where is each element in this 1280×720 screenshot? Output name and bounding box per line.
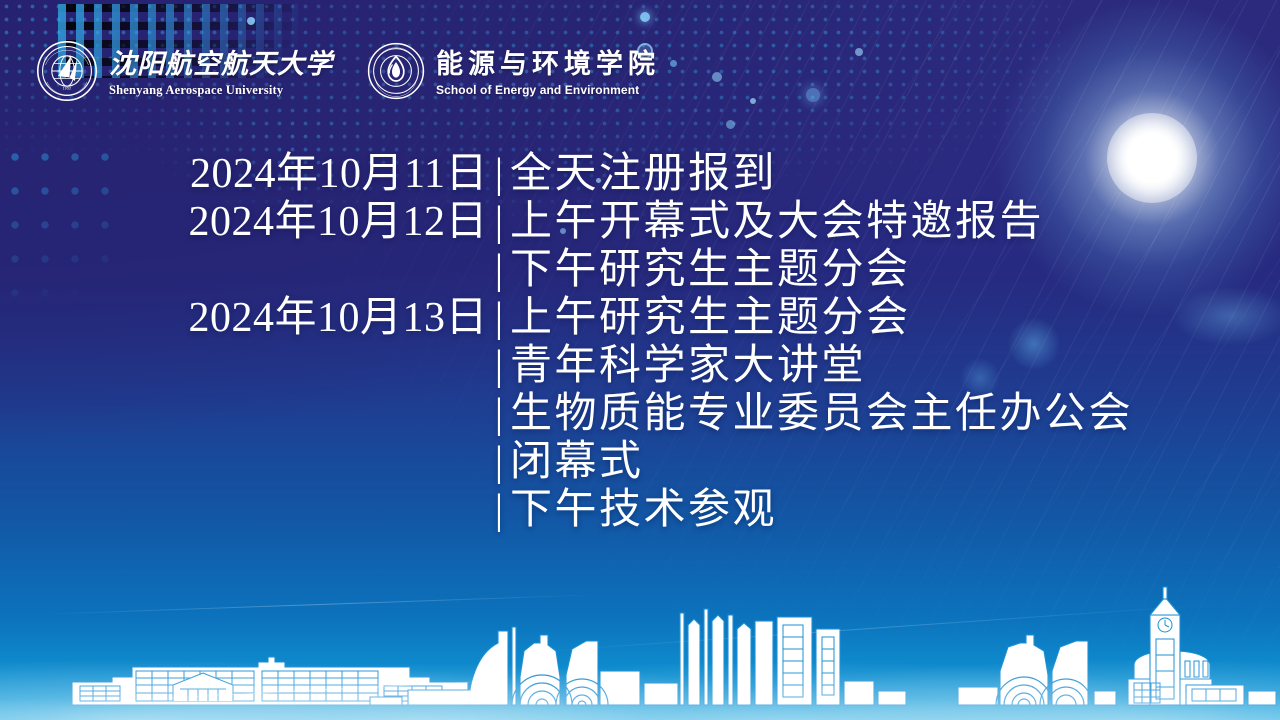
schedule-row: |闭幕式 [0, 438, 1280, 486]
schedule-date: 2024年10月11日 [0, 150, 488, 198]
schedule-item: 上午研究生主题分会 [510, 294, 1280, 342]
schedule-list: 2024年10月11日|全天注册报到2024年10月12日|上午开幕式及大会特邀… [0, 150, 1280, 534]
schedule-item: 下午研究生主题分会 [510, 246, 1280, 294]
university-name-en: Shenyang Aerospace University [109, 84, 333, 97]
schedule-row: 2024年10月13日|上午研究生主题分会 [0, 294, 1280, 342]
bokeh-dot [247, 17, 255, 25]
school-seal-icon [367, 42, 425, 105]
schedule-row: |生物质能专业委员会主任办公会 [0, 390, 1280, 438]
schedule-item: 全天注册报到 [510, 150, 1280, 198]
bokeh-dot [855, 48, 863, 56]
schedule-item: 闭幕式 [510, 438, 1280, 486]
schedule-item: 生物质能专业委员会主任办公会 [510, 390, 1280, 438]
schedule-separator: | [488, 390, 510, 438]
school-name-cn: 能源与环境学院 [436, 51, 660, 78]
header-logo-bar: 1952 沈阳航空航天大学 Shenyang Aerospace Univers… [36, 40, 660, 107]
cloud-band-icon [0, 648, 1280, 720]
university-seal-icon: 1952 [36, 40, 98, 107]
schedule-separator: | [488, 486, 510, 534]
schedule-item: 下午技术参观 [510, 486, 1280, 534]
schedule-separator: | [488, 342, 510, 390]
schedule-item: 青年科学家大讲堂 [510, 342, 1280, 390]
schedule-separator: | [488, 198, 510, 246]
schedule-item: 上午开幕式及大会特邀报告 [510, 198, 1280, 246]
schedule-date: 2024年10月13日 [0, 294, 488, 342]
school-name-en: School of Energy and Environment [436, 84, 660, 96]
bokeh-dot [750, 98, 756, 104]
bokeh-dot [726, 120, 735, 129]
schedule-separator: | [488, 438, 510, 486]
university-name-block: 沈阳航空航天大学 Shenyang Aerospace University [109, 51, 333, 97]
bokeh-dot [806, 88, 820, 102]
schedule-separator: | [488, 294, 510, 342]
schedule-row: |下午研究生主题分会 [0, 246, 1280, 294]
university-name-cn: 沈阳航空航天大学 [109, 51, 333, 78]
schedule-separator: | [488, 150, 510, 198]
bokeh-dot [640, 12, 650, 22]
slide-canvas: 1952 沈阳航空航天大学 Shenyang Aerospace Univers… [0, 0, 1280, 720]
schedule-separator: | [488, 246, 510, 294]
university-logo: 1952 沈阳航空航天大学 Shenyang Aerospace Univers… [36, 40, 333, 107]
bokeh-dot [670, 60, 677, 67]
school-name-block: 能源与环境学院 School of Energy and Environment [436, 51, 660, 96]
bokeh-dot [712, 72, 722, 82]
schedule-date: 2024年10月12日 [0, 198, 488, 246]
schedule-row: |青年科学家大讲堂 [0, 342, 1280, 390]
schedule-row: 2024年10月12日|上午开幕式及大会特邀报告 [0, 198, 1280, 246]
svg-text:1952: 1952 [63, 87, 72, 91]
schedule-row: 2024年10月11日|全天注册报到 [0, 150, 1280, 198]
school-logo: 能源与环境学院 School of Energy and Environment [367, 42, 660, 105]
schedule-row: |下午技术参观 [0, 486, 1280, 534]
